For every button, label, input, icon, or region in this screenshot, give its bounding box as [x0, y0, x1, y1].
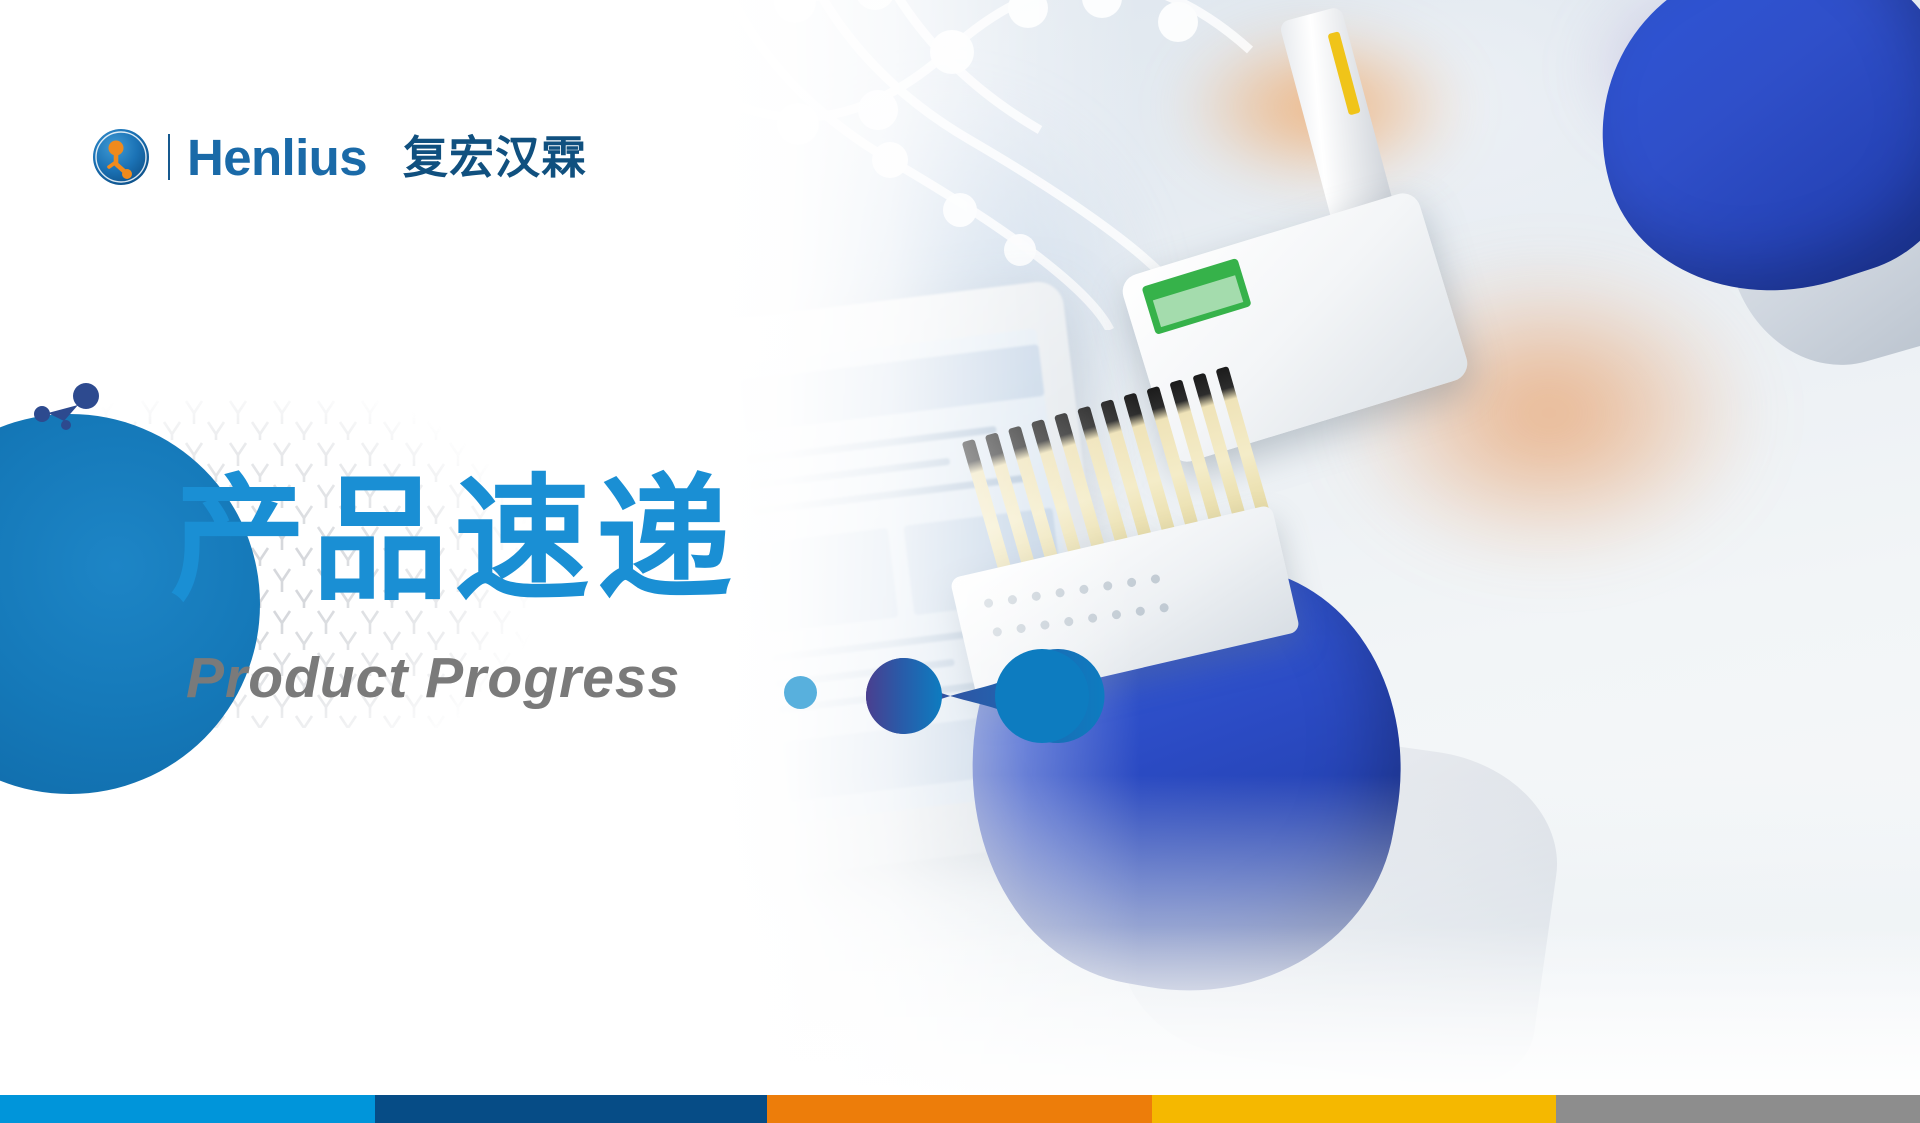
logo-english-name: Henlius [187, 132, 367, 183]
pipette-green-label [1141, 258, 1251, 335]
bottom-color-bar [0, 1095, 1920, 1123]
bar-segment-orange [767, 1095, 1152, 1123]
logo-divider [168, 134, 170, 180]
bar-segment-grey [1556, 1095, 1920, 1123]
logo-chinese-name: 复宏汉霖 [403, 135, 587, 180]
bar-segment-amber [1152, 1095, 1556, 1123]
decor-dot-small [784, 676, 817, 709]
lab-photo [710, 0, 1920, 1095]
henlius-logo[interactable]: Henlius 复宏汉霖 [92, 128, 587, 186]
molecule-connector-decor [866, 640, 1126, 748]
henlius-mark-icon [92, 128, 150, 186]
bar-segment-dark-blue [375, 1095, 767, 1123]
page-title-english: Product Progress [186, 650, 680, 707]
page-title-chinese: 产品速递 [170, 473, 738, 609]
mini-molecule-icon [30, 383, 102, 431]
bar-segment-light-blue [0, 1095, 375, 1123]
title-slide: Henlius 复宏汉霖 产品速递 Product Progress [0, 0, 1920, 1123]
photo-bottom-fade [710, 925, 1920, 1095]
